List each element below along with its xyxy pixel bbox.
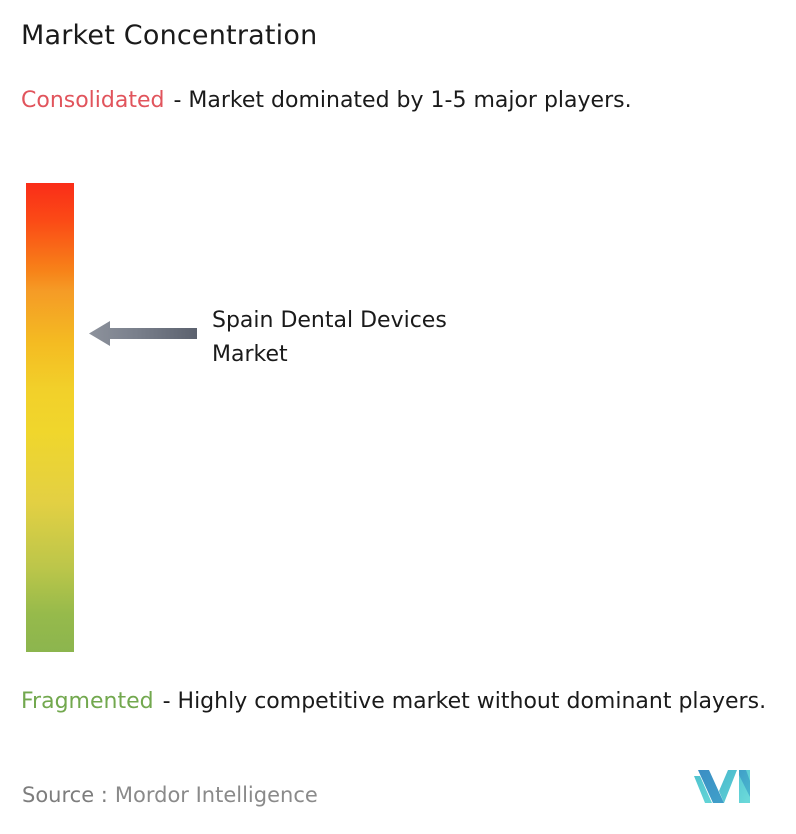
source-label: Source : (22, 783, 108, 807)
legend-key-fragmented: Fragmented (21, 689, 154, 714)
marker-label-line-1: Spain Dental Devices (212, 304, 562, 338)
legend-consolidated: Consolidated- Market dominated by 1-5 ma… (21, 85, 761, 117)
marker-label-line-2: Market (212, 338, 562, 372)
legend-description-fragmented: - Highly competitive market without domi… (163, 689, 766, 714)
source-attribution: Source :Mordor Intelligence (22, 781, 318, 809)
legend-fragmented: Fragmented- Highly competitive market wi… (21, 686, 783, 718)
legend-key-consolidated: Consolidated (21, 88, 164, 113)
marker-label-spain-dental-devices-market: Spain Dental Devices Market (212, 304, 562, 372)
concentration-gradient-bar (26, 183, 74, 652)
left-arrow-icon (89, 318, 197, 349)
mordor-intelligence-logo-icon (694, 767, 754, 803)
page-title: Market Concentration (21, 19, 317, 53)
market-concentration-infographic: Market Concentration Consolidated- Marke… (0, 0, 796, 834)
legend-description-consolidated: - Market dominated by 1-5 major players. (173, 88, 631, 113)
source-value: Mordor Intelligence (115, 783, 318, 807)
